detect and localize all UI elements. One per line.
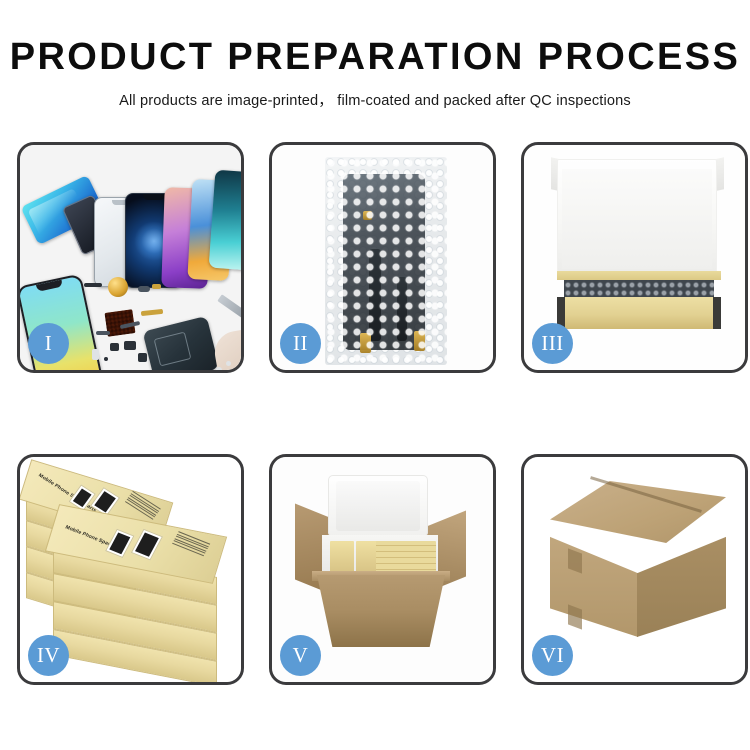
process-step-panel-3: III <box>521 142 748 373</box>
step-badge-4: IV <box>28 635 69 676</box>
step-badge-2: II <box>280 323 321 364</box>
foam-lid-open <box>328 475 428 537</box>
screw <box>226 361 231 366</box>
spare-part <box>138 353 147 362</box>
spare-part <box>152 284 161 289</box>
gold-connector <box>363 211 372 220</box>
process-step-panel-2: II <box>269 142 496 373</box>
process-step-panel-4: Mobile Phone Spare Parts Mobile Phone Sp… <box>17 454 244 685</box>
phone-screen-teal-wave <box>209 170 241 271</box>
box-product-image <box>105 529 134 558</box>
inner-box-lip <box>557 271 721 280</box>
white-foam-insert <box>562 169 712 269</box>
speaker-component-icon <box>108 277 128 297</box>
flex-cable <box>397 277 407 341</box>
yellow-boxes-stacked <box>376 541 436 575</box>
gold-connector <box>414 331 425 351</box>
process-step-panel-1: I <box>17 142 244 373</box>
page-subtitle: All products are image-printed， film-coa… <box>0 89 750 110</box>
carton-body <box>317 575 445 647</box>
process-step-panel-6: VI <box>521 454 748 685</box>
step-badge-3: III <box>532 323 573 364</box>
screw <box>216 367 222 370</box>
step-badge-5: V <box>280 635 321 676</box>
flex-cable <box>369 249 381 341</box>
page-title: PRODUCT PREPARATION PROCESS <box>0 38 750 78</box>
inner-box-front <box>557 297 721 329</box>
box-spec-lines <box>172 531 210 556</box>
spare-part <box>138 286 150 292</box>
phone-screen-inside-pouch <box>343 174 425 350</box>
process-step-panel-5: V <box>269 454 496 685</box>
spare-part <box>84 283 102 287</box>
spare-part <box>110 343 119 351</box>
spare-part <box>92 349 99 360</box>
spare-part <box>104 357 108 361</box>
step-badge-1: I <box>28 323 69 364</box>
page-header: PRODUCT PREPARATION PROCESS All products… <box>0 0 750 110</box>
box-product-image <box>131 529 163 561</box>
inner-box-edge-right <box>713 297 721 329</box>
spare-part <box>96 331 110 335</box>
spare-part <box>124 341 136 350</box>
process-step-grid: I II III <box>17 142 733 685</box>
gold-connector <box>360 333 371 353</box>
step-badge-6: VI <box>532 635 573 676</box>
